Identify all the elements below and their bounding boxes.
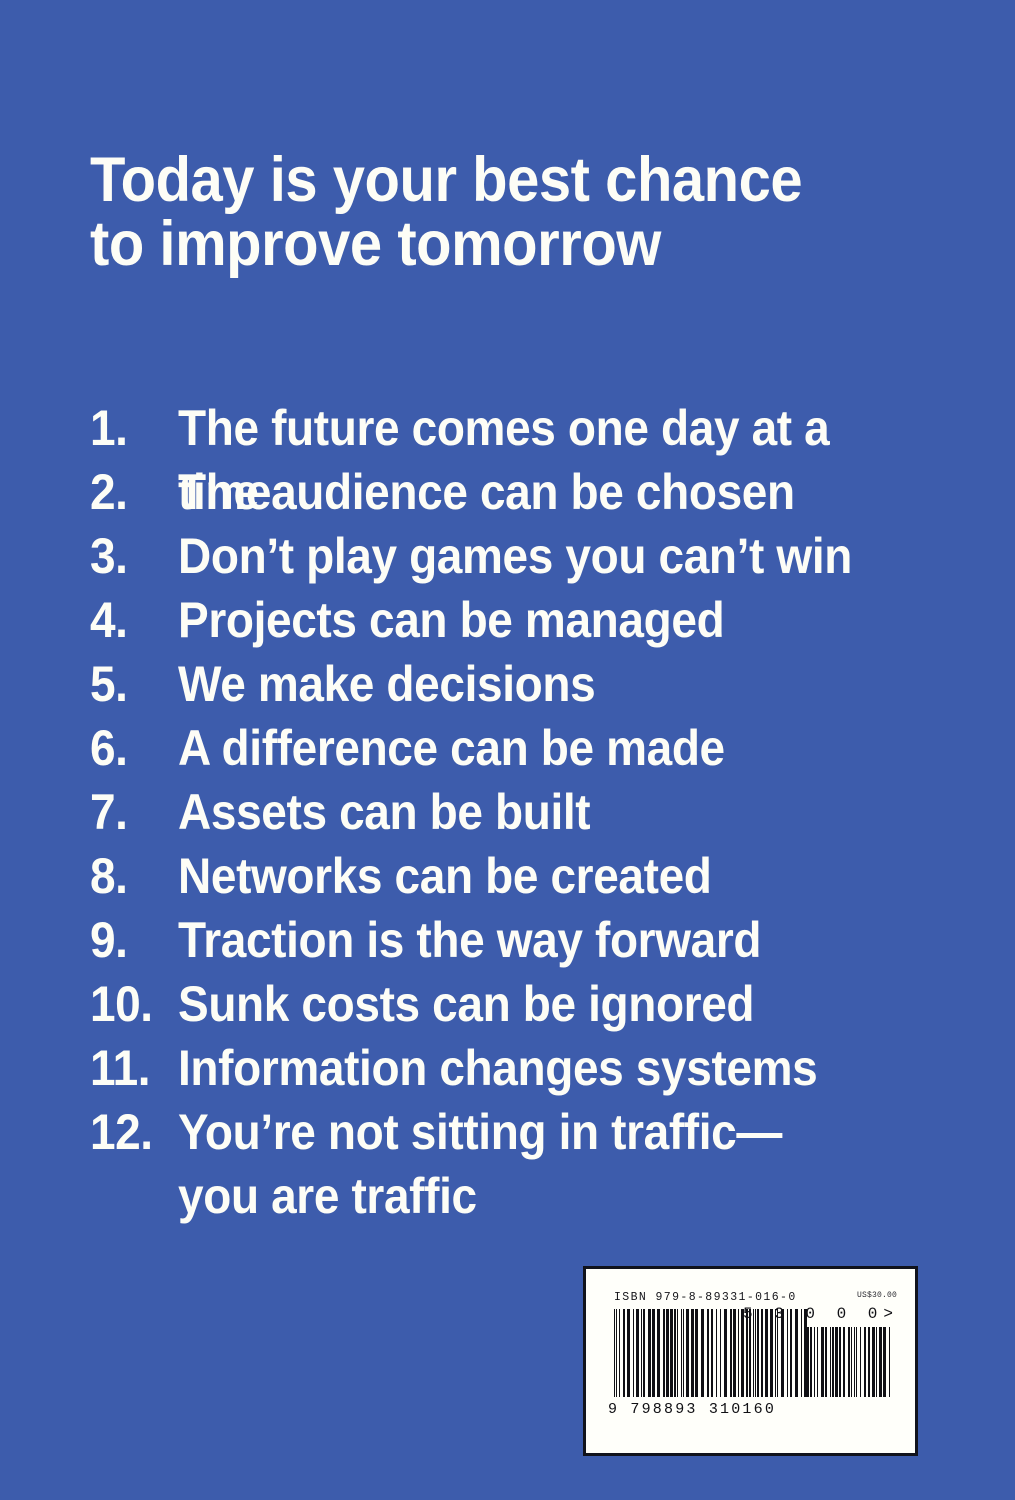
- point-number: 9.: [90, 908, 171, 972]
- point-number: 10.: [90, 972, 171, 1036]
- point-row: 11.Information changes systems: [90, 1036, 950, 1100]
- price-label: US$30.00: [857, 1291, 897, 1300]
- point-row: 1.The future comes one day at a time: [90, 396, 950, 460]
- point-text: Traction is the way forward: [178, 908, 888, 972]
- ean5-supplement-digits: 5 3 0 0 0>: [743, 1305, 899, 1323]
- point-row: 2.The audience can be chosen: [90, 460, 950, 524]
- point-text: Sunk costs can be ignored: [178, 972, 888, 1036]
- point-text: Assets can be built: [178, 780, 888, 844]
- point-row: 9.Traction is the way forward: [90, 908, 950, 972]
- point-number: 11.: [90, 1036, 171, 1100]
- point-number: 5.: [90, 652, 171, 716]
- point-number: 12.: [90, 1100, 171, 1164]
- point-row: 12.You’re not sitting in traffic— you ar…: [90, 1100, 950, 1228]
- ean5-supplement-bars: [807, 1327, 897, 1397]
- point-text: We make decisions: [178, 652, 888, 716]
- point-row: 3.Don’t play games you can’t win: [90, 524, 950, 588]
- point-number: 6.: [90, 716, 171, 780]
- isbn-label: ISBN 979-8-89331-016-0: [614, 1291, 797, 1304]
- barcode-panel: ISBN 979-8-89331-016-0 US$30.00 9 798893…: [583, 1266, 918, 1456]
- point-row: 6.A difference can be made: [90, 716, 950, 780]
- point-row: 4.Projects can be managed: [90, 588, 950, 652]
- point-number: 3.: [90, 524, 171, 588]
- point-text: Networks can be created: [178, 844, 888, 908]
- point-number: 4.: [90, 588, 171, 652]
- barcode-inner: ISBN 979-8-89331-016-0 US$30.00 9 798893…: [586, 1269, 915, 1453]
- headline: Today is your best chance to improve tom…: [90, 148, 854, 276]
- point-text: Don’t play games you can’t win: [178, 524, 888, 588]
- point-text: You’re not sitting in traffic— you are t…: [178, 1100, 888, 1228]
- point-number: 2.: [90, 460, 171, 524]
- point-row: 8.Networks can be created: [90, 844, 950, 908]
- ean13-digits: 9 798893 310160: [608, 1401, 820, 1418]
- point-row: 5.We make decisions: [90, 652, 950, 716]
- point-text: A difference can be made: [178, 716, 888, 780]
- point-row: 10.Sunk costs can be ignored: [90, 972, 950, 1036]
- point-number: 1.: [90, 396, 171, 460]
- point-number: 7.: [90, 780, 171, 844]
- point-text: Projects can be managed: [178, 588, 888, 652]
- point-row: 7.Assets can be built: [90, 780, 950, 844]
- point-text: The audience can be chosen: [178, 460, 888, 524]
- book-back-cover: Today is your best chance to improve tom…: [0, 0, 1015, 1500]
- point-text: Information changes systems: [178, 1036, 888, 1100]
- point-number: 8.: [90, 844, 171, 908]
- points-list: 1.The future comes one day at a time2.Th…: [90, 396, 950, 1228]
